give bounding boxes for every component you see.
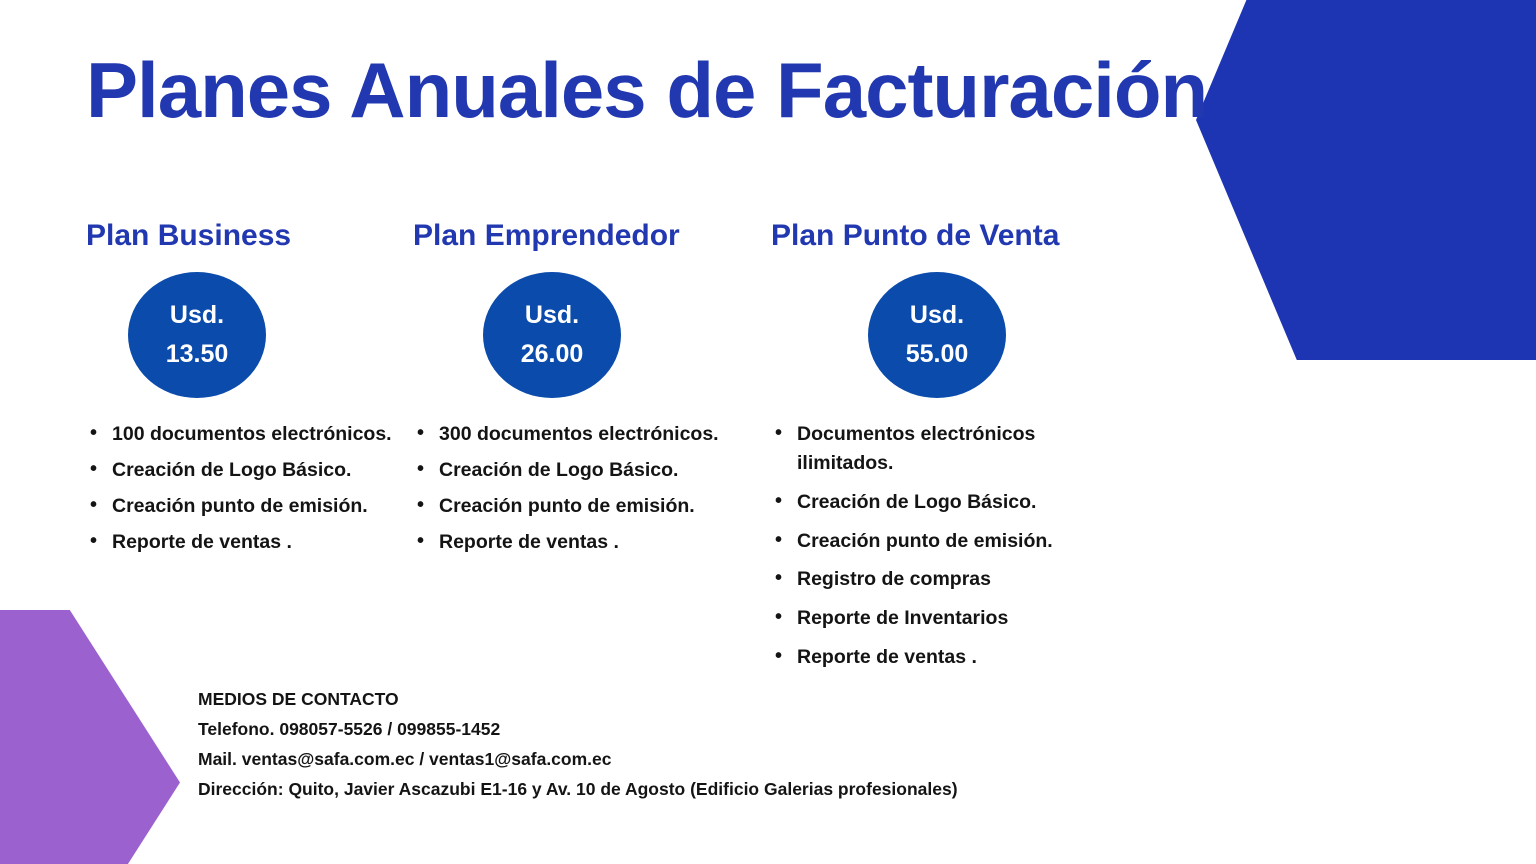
- hexagon-purple-decoration: [0, 610, 180, 864]
- price-currency: Usd.: [170, 296, 224, 335]
- list-item: Documentos electrónicos ilimitados.: [771, 420, 1101, 478]
- price-currency: Usd.: [910, 296, 964, 335]
- contact-heading: MEDIOS DE CONTACTO: [198, 684, 958, 714]
- plan-card-punto-de-venta: Plan Punto de Venta Usd. 55.00 Documento…: [771, 218, 1101, 682]
- plans-container: Plan Business Usd. 13.50 100 documentos …: [0, 218, 1140, 638]
- price-amount: 55.00: [906, 335, 969, 374]
- list-item: 100 documentos electrónicos.: [86, 420, 396, 449]
- list-item: Reporte de ventas .: [86, 528, 396, 557]
- slide-canvas: Planes Anuales de Facturación Plan Busin…: [0, 0, 1536, 864]
- contact-mail: Mail. ventas@safa.com.ec / ventas1@safa.…: [198, 744, 958, 774]
- price-amount: 13.50: [166, 335, 229, 374]
- list-item: Creación punto de emisión.: [771, 527, 1101, 556]
- list-item: Registro de compras: [771, 565, 1101, 594]
- list-item: Creación de Logo Básico.: [413, 456, 723, 485]
- hexagon-blue-decoration: [1196, 0, 1536, 360]
- price-badge: Usd. 55.00: [868, 272, 1006, 398]
- feature-list: Documentos electrónicos ilimitados. Crea…: [771, 420, 1101, 672]
- list-item: Creación punto de emisión.: [413, 492, 723, 521]
- price-row: Usd. 55.00: [771, 272, 1101, 420]
- feature-list: 100 documentos electrónicos. Creación de…: [86, 420, 396, 556]
- price-badge: Usd. 13.50: [128, 272, 266, 398]
- plan-card-business: Plan Business Usd. 13.50 100 documentos …: [86, 218, 396, 563]
- price-amount: 26.00: [521, 335, 584, 374]
- list-item: Reporte de ventas .: [413, 528, 723, 557]
- list-item: 300 documentos electrónicos.: [413, 420, 723, 449]
- list-item: Reporte de Inventarios: [771, 604, 1101, 633]
- list-item: Creación de Logo Básico.: [86, 456, 396, 485]
- price-row: Usd. 26.00: [413, 272, 723, 420]
- price-badge: Usd. 26.00: [483, 272, 621, 398]
- plan-title: Plan Emprendedor: [413, 218, 723, 254]
- price-currency: Usd.: [525, 296, 579, 335]
- feature-list: 300 documentos electrónicos. Creación de…: [413, 420, 723, 556]
- price-row: Usd. 13.50: [86, 272, 396, 420]
- plan-title: Plan Punto de Venta: [771, 218, 1101, 254]
- contact-block: MEDIOS DE CONTACTO Telefono. 098057-5526…: [198, 684, 958, 804]
- plan-title: Plan Business: [86, 218, 396, 254]
- page-title: Planes Anuales de Facturación: [86, 48, 1207, 132]
- contact-phone: Telefono. 098057-5526 / 099855-1452: [198, 714, 958, 744]
- plan-card-emprendedor: Plan Emprendedor Usd. 26.00 300 document…: [413, 218, 723, 563]
- list-item: Creación de Logo Básico.: [771, 488, 1101, 517]
- list-item: Creación punto de emisión.: [86, 492, 396, 521]
- contact-address: Dirección: Quito, Javier Ascazubi E1-16 …: [198, 774, 958, 804]
- list-item: Reporte de ventas .: [771, 643, 1101, 672]
